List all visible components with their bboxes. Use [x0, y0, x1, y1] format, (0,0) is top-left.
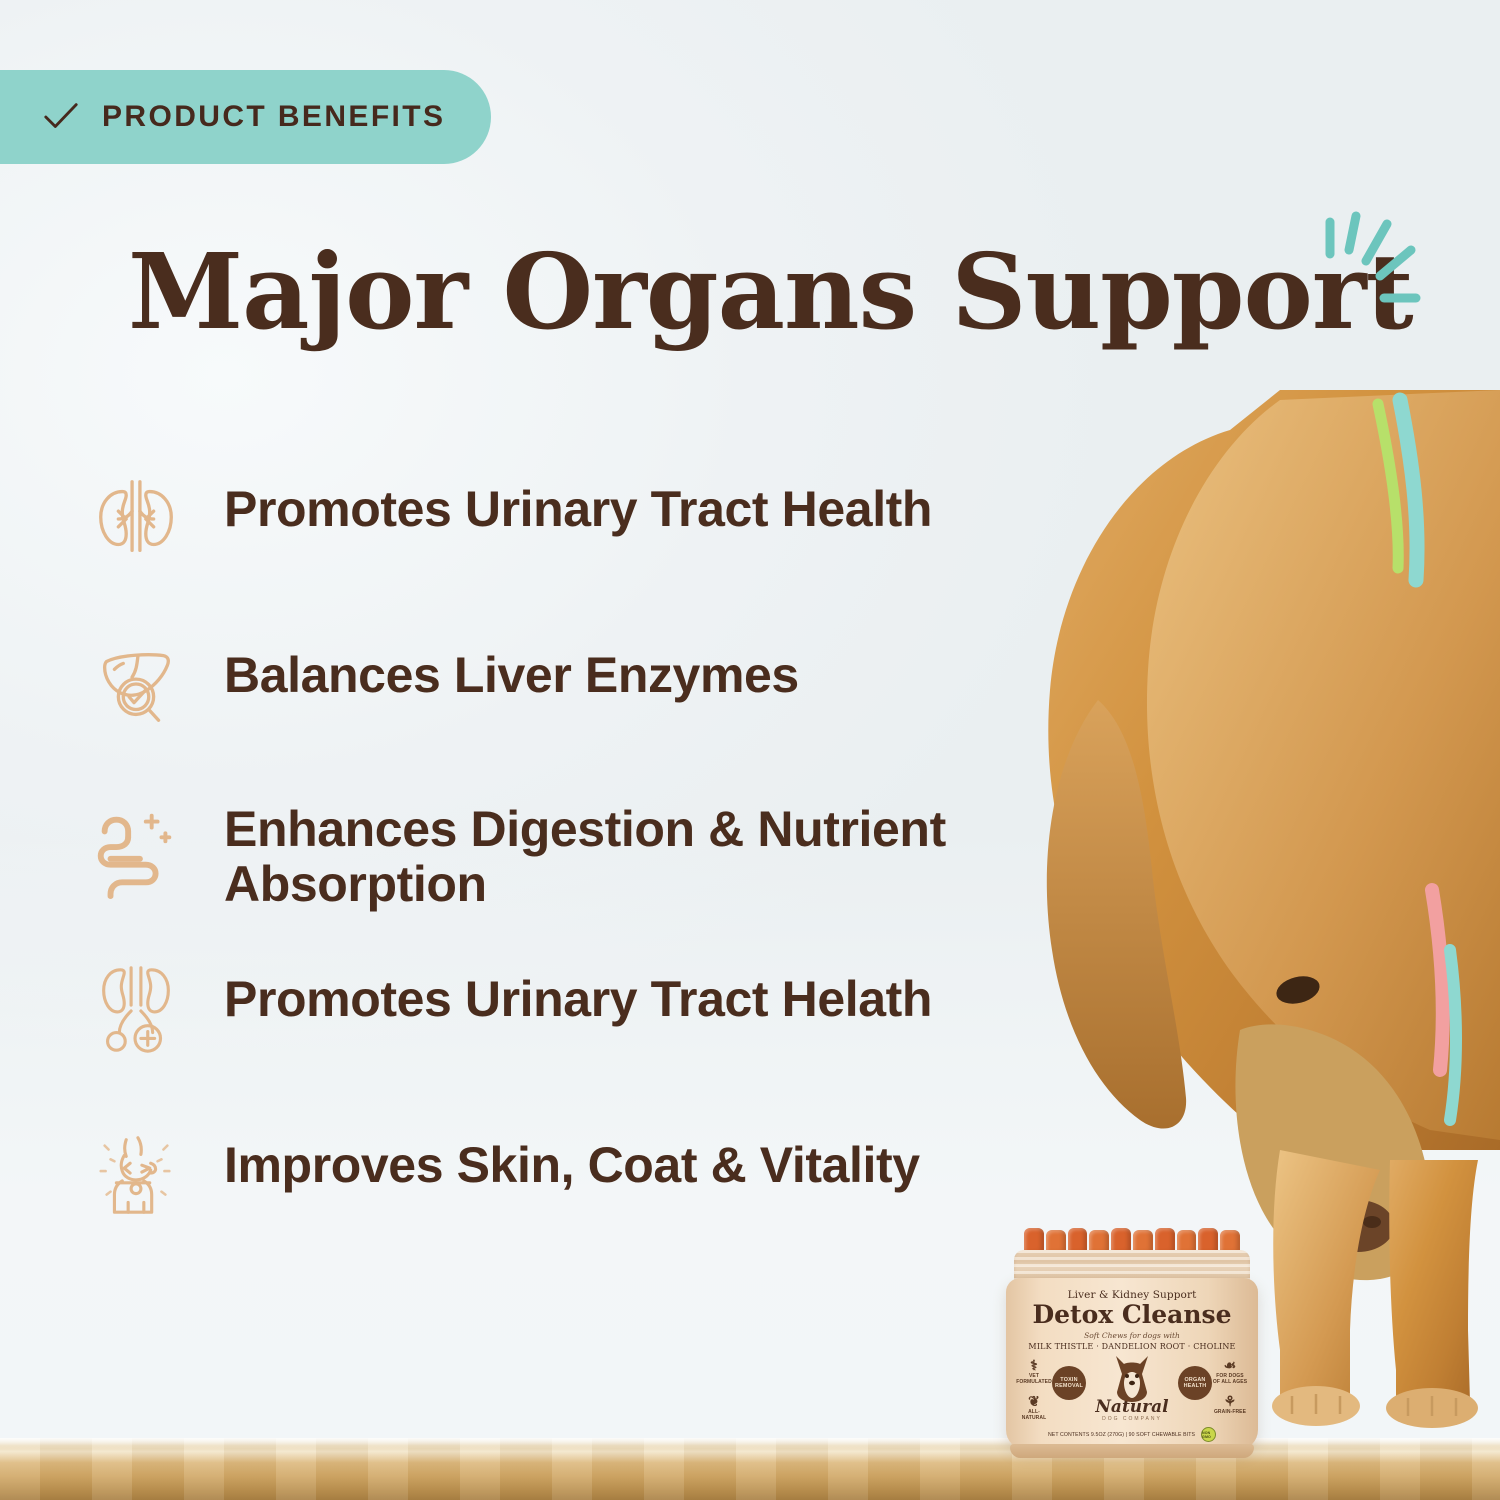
all-ages-claim: ☙ FOR DOGS OF ALL AGES [1212, 1358, 1248, 1385]
organ-health-seal: ORGAN HEALTH [1178, 1366, 1212, 1400]
product-seals-row: ⚕ VET FORMULATED ☙ FOR DOGS OF ALL AGES … [1018, 1354, 1246, 1401]
caduceus-icon: ⚕ [1016, 1358, 1052, 1372]
benefit-label: Improves Skin, Coat & Vitality [224, 1124, 920, 1193]
jar-base [1010, 1444, 1254, 1458]
net-contents-row: NET CONTENTS 9.5OZ (270G) | 90 SOFT CHEW… [1048, 1427, 1216, 1442]
toxin-removal-seal: TOXIN REMOVAL [1052, 1366, 1086, 1400]
leaf-icon: ❦ [1016, 1394, 1052, 1408]
brand-subtitle: DOG COMPANY [1102, 1416, 1162, 1422]
claim-line2: FORMULATED [1016, 1379, 1052, 1385]
paw-icon: ☙ [1212, 1358, 1248, 1372]
jar-label: Liver & Kidney Support Detox Cleanse Sof… [1006, 1278, 1258, 1450]
benefits-list: Promotes Urinary Tract Health Balances L… [86, 468, 1096, 1290]
page-title: Major Organs Support [128, 238, 1413, 346]
vet-formulated-claim: ⚕ VET FORMULATED [1016, 1358, 1052, 1385]
kidneys-icon [86, 468, 186, 568]
liver-magnifier-icon [86, 634, 186, 734]
seal-line1: TOXIN [1060, 1377, 1077, 1383]
benefit-item: Improves Skin, Coat & Vitality [86, 1124, 1096, 1224]
benefit-label: Enhances Digestion & Nutrient Absorption [224, 800, 1096, 912]
grain-free-claim: ⚘ GRAIN-FREE [1212, 1394, 1248, 1415]
brand-dog-icon [1109, 1352, 1155, 1404]
product-subtitle: Soft Chews for dogs with [1084, 1331, 1180, 1340]
page-title-wrap: Major Organs Support [128, 238, 1413, 346]
all-natural-claim: ❦ ALL- NATURAL [1016, 1394, 1052, 1421]
benefit-label: Balances Liver Enzymes [224, 634, 799, 703]
product-benefits-badge: PRODUCT BENEFITS [0, 70, 491, 164]
claim-line2: OF ALL AGES [1213, 1379, 1247, 1385]
seal-line1: ORGAN [1184, 1377, 1205, 1383]
non-gmo-seal: NON GMO [1201, 1427, 1216, 1442]
benefit-item: Enhances Digestion & Nutrient Absorption [86, 800, 1096, 912]
badge-label: PRODUCT BENEFITS [102, 100, 445, 134]
shiny-dog-icon [86, 1124, 186, 1224]
benefit-item: Promotes Urinary Tract Health [86, 468, 1096, 568]
claim-line1: GRAIN-FREE [1214, 1409, 1246, 1415]
table-surface [0, 1438, 1500, 1500]
check-icon [42, 98, 80, 136]
claim-line2: NATURAL [1022, 1415, 1047, 1421]
intestines-sparkle-icon [86, 800, 186, 900]
no-grain-icon: ⚘ [1212, 1394, 1248, 1408]
product-ingredients: MILK THISTLE · DANDELION ROOT · CHOLINE [1028, 1342, 1235, 1351]
starburst-icon [1318, 206, 1428, 326]
seal-line2: HEALTH [1184, 1383, 1207, 1389]
product-title: Detox Cleanse [1032, 1302, 1231, 1328]
benefit-label: Promotes Urinary Tract Health [224, 468, 932, 537]
product-jar: Liver & Kidney Support Detox Cleanse Sof… [1006, 1228, 1258, 1460]
benefit-label: Promotes Urinary Tract Helath [224, 958, 932, 1027]
net-contents: NET CONTENTS 9.5OZ (270G) | 90 SOFT CHEW… [1048, 1432, 1195, 1438]
benefit-item: Balances Liver Enzymes [86, 634, 1096, 734]
benefit-item: Promotes Urinary Tract Helath [86, 958, 1096, 1058]
seal-line2: REMOVAL [1055, 1383, 1083, 1389]
kidneys-plus-icon [86, 958, 186, 1058]
